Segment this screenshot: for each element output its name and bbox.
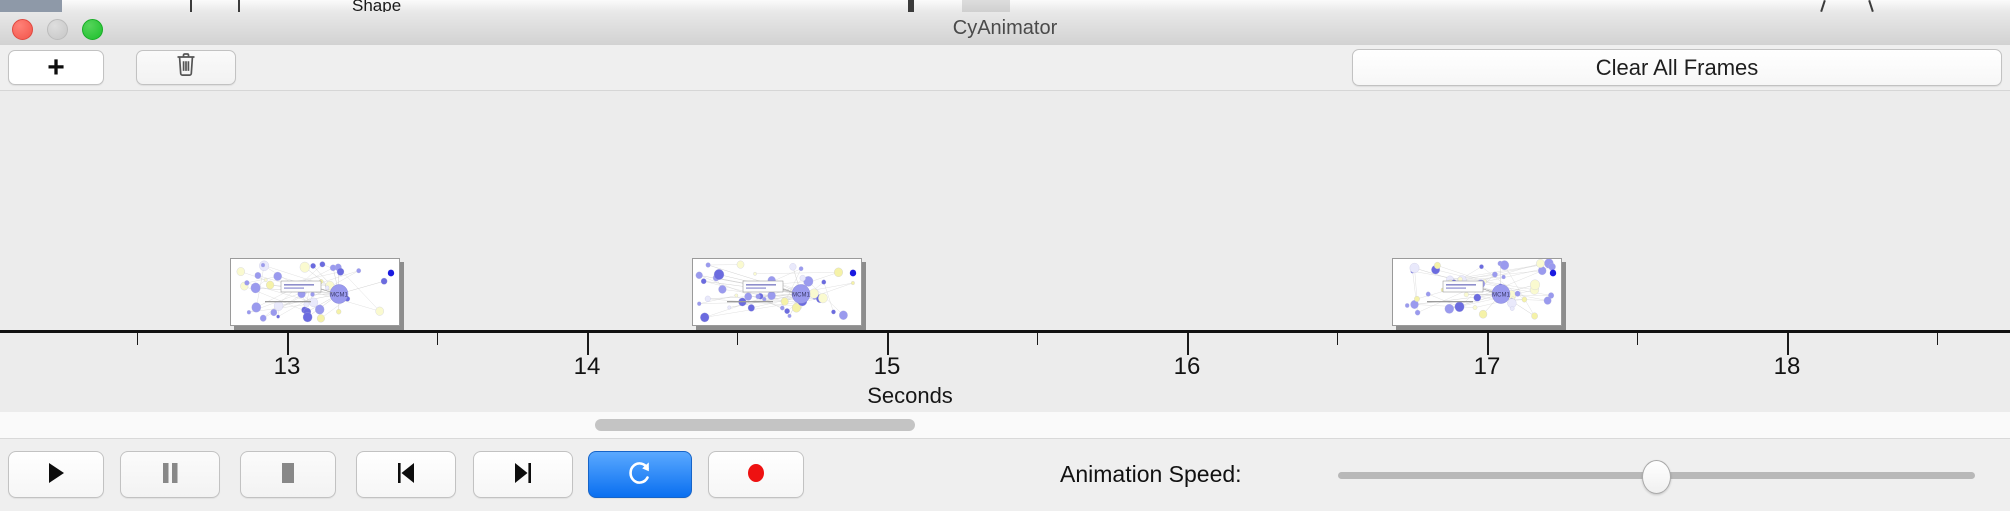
svg-text:MCM1: MCM1 bbox=[792, 293, 810, 299]
network-graph-preview: MCM1 bbox=[1393, 259, 1561, 325]
ruler-tick-label: 14 bbox=[574, 353, 601, 381]
ruler-tick-major bbox=[287, 333, 289, 355]
stop-icon bbox=[276, 460, 300, 490]
background-window-titlebar-chip bbox=[0, 0, 62, 12]
add-frame-button[interactable]: + bbox=[8, 50, 104, 85]
clear-all-frames-label: Clear All Frames bbox=[1596, 55, 1759, 81]
ruler-tick-major bbox=[887, 333, 889, 355]
horizontal-scrollbar[interactable] bbox=[0, 412, 2010, 439]
record-button[interactable] bbox=[708, 451, 804, 498]
skip-end-button[interactable] bbox=[473, 451, 573, 498]
timeline-canvas[interactable]: MCM1 MCM1 bbox=[0, 90, 2010, 413]
ruler-tick-major bbox=[587, 333, 589, 355]
delete-frame-button[interactable] bbox=[136, 50, 236, 85]
ruler-baseline bbox=[0, 330, 2010, 333]
ruler-tick-minor bbox=[1037, 333, 1038, 345]
frame-thumbnail[interactable]: MCM1 bbox=[692, 258, 862, 326]
skip-start-icon bbox=[393, 460, 419, 490]
window-title: CyAnimator bbox=[0, 12, 2010, 45]
ruler-tick-major bbox=[1187, 333, 1189, 355]
ruler-tick-major bbox=[1787, 333, 1789, 355]
ruler-tick-minor bbox=[737, 333, 738, 345]
animation-speed-label: Animation Speed: bbox=[1060, 451, 1242, 498]
background-window-label: Shape bbox=[352, 0, 401, 12]
pause-icon bbox=[158, 460, 182, 490]
trash-icon bbox=[175, 52, 197, 83]
scrollbar-thumb[interactable] bbox=[595, 419, 915, 431]
pause-button bbox=[120, 451, 220, 498]
network-graph-preview: MCM1 bbox=[693, 259, 861, 325]
loop-icon bbox=[627, 459, 653, 491]
skip-end-icon bbox=[510, 460, 536, 490]
play-button[interactable] bbox=[8, 451, 104, 498]
ruler-tick-minor bbox=[1937, 333, 1938, 345]
cyanimator-window: Shape CyAnimator + Clear All bbox=[0, 0, 2010, 510]
plus-icon: + bbox=[47, 53, 65, 83]
ruler-tick-major bbox=[1487, 333, 1489, 355]
axis-title: Seconds bbox=[0, 383, 2010, 409]
ruler-tick-minor bbox=[1637, 333, 1638, 345]
time-ruler[interactable]: 12131415161718 Seconds bbox=[0, 330, 2010, 412]
close-button[interactable] bbox=[12, 19, 33, 40]
transport-bar: Animation Speed: bbox=[0, 438, 2010, 511]
loop-button[interactable] bbox=[588, 451, 692, 498]
toolbar: + Clear All Frames bbox=[0, 45, 2010, 91]
background-window-strip: Shape bbox=[0, 0, 2010, 12]
ruler-tick-minor bbox=[1337, 333, 1338, 345]
ruler-tick-label: 16 bbox=[1174, 353, 1201, 381]
ruler-tick-minor bbox=[137, 333, 138, 345]
ruler-tick-label: 15 bbox=[874, 353, 901, 381]
ruler-tick-minor bbox=[437, 333, 438, 345]
frame-thumbnail[interactable]: MCM1 bbox=[1392, 258, 1562, 326]
title-bar: CyAnimator bbox=[0, 12, 2010, 46]
stop-button bbox=[240, 451, 336, 498]
svg-text:MCM1: MCM1 bbox=[330, 293, 348, 299]
ruler-tick-label: 18 bbox=[1774, 353, 1801, 381]
traffic-lights bbox=[12, 19, 103, 40]
animation-speed-slider-thumb[interactable] bbox=[1642, 460, 1671, 494]
frame-thumbnail[interactable]: MCM1 bbox=[230, 258, 400, 326]
skip-start-button[interactable] bbox=[356, 451, 456, 498]
maximize-button[interactable] bbox=[82, 19, 103, 40]
ruler-tick-label: 17 bbox=[1474, 353, 1501, 381]
clear-all-frames-button[interactable]: Clear All Frames bbox=[1352, 49, 2002, 86]
minimize-button[interactable] bbox=[47, 19, 68, 40]
play-icon bbox=[43, 460, 69, 490]
timeline-top-divider bbox=[0, 90, 2010, 91]
ruler-tick-label: 13 bbox=[274, 353, 301, 381]
network-graph-preview: MCM1 bbox=[231, 259, 399, 325]
svg-text:MCM1: MCM1 bbox=[1492, 293, 1510, 299]
record-icon bbox=[743, 460, 769, 490]
